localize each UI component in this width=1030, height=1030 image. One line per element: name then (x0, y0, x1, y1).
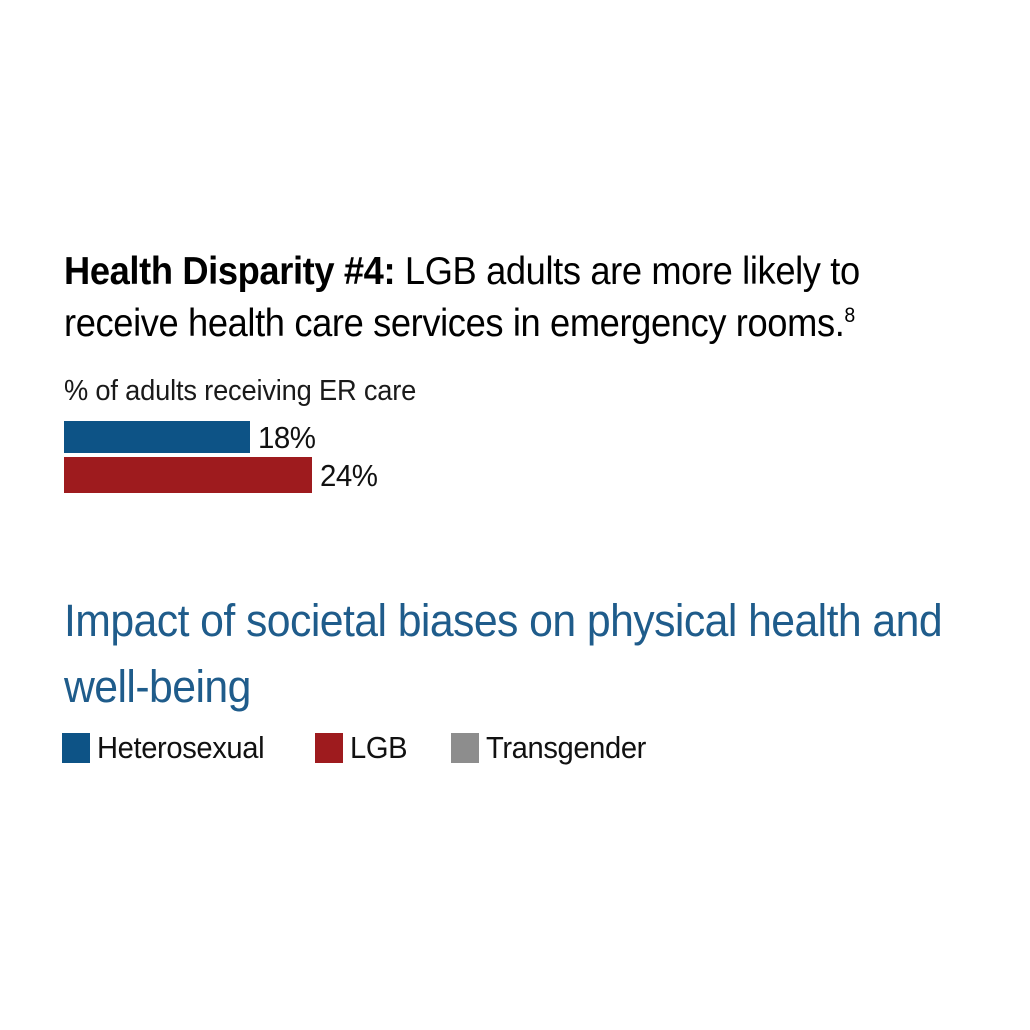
headline: Health Disparity #4: LGB adults are more… (64, 246, 901, 350)
chart-title: % of adults receiving ER care (64, 374, 590, 408)
legend-item-transgender: Transgender (451, 732, 656, 763)
legend-label: Transgender (486, 732, 646, 763)
bar-chart: % of adults receiving ER care 18% 24% (64, 374, 624, 492)
bar-value-heterosexual: 18% (258, 422, 316, 453)
legend-swatch-icon (451, 733, 479, 763)
bar-heterosexual (64, 421, 250, 453)
legend-item-heterosexual: Heterosexual (62, 732, 275, 763)
infographic-root: Health Disparity #4: LGB adults are more… (0, 0, 1030, 1030)
bar-row: 24% (64, 458, 624, 492)
bar-list: 18% 24% (64, 420, 624, 492)
legend-item-lgb: LGB (315, 732, 411, 763)
legend-label: LGB (350, 732, 407, 763)
bar-lgb (64, 457, 312, 493)
legend-swatch-icon (62, 733, 90, 763)
bar-value-lgb: 24% (320, 460, 378, 491)
legend-label: Heterosexual (97, 732, 264, 763)
bar-row: 18% (64, 420, 624, 454)
headline-bold-lead: Health Disparity #4: (64, 250, 395, 293)
section-heading: Impact of societal biases on physical he… (64, 588, 948, 720)
legend-swatch-icon (315, 733, 343, 763)
footnote-marker: 8 (844, 304, 854, 327)
chart-legend: Heterosexual LGB Transgender (62, 732, 656, 763)
